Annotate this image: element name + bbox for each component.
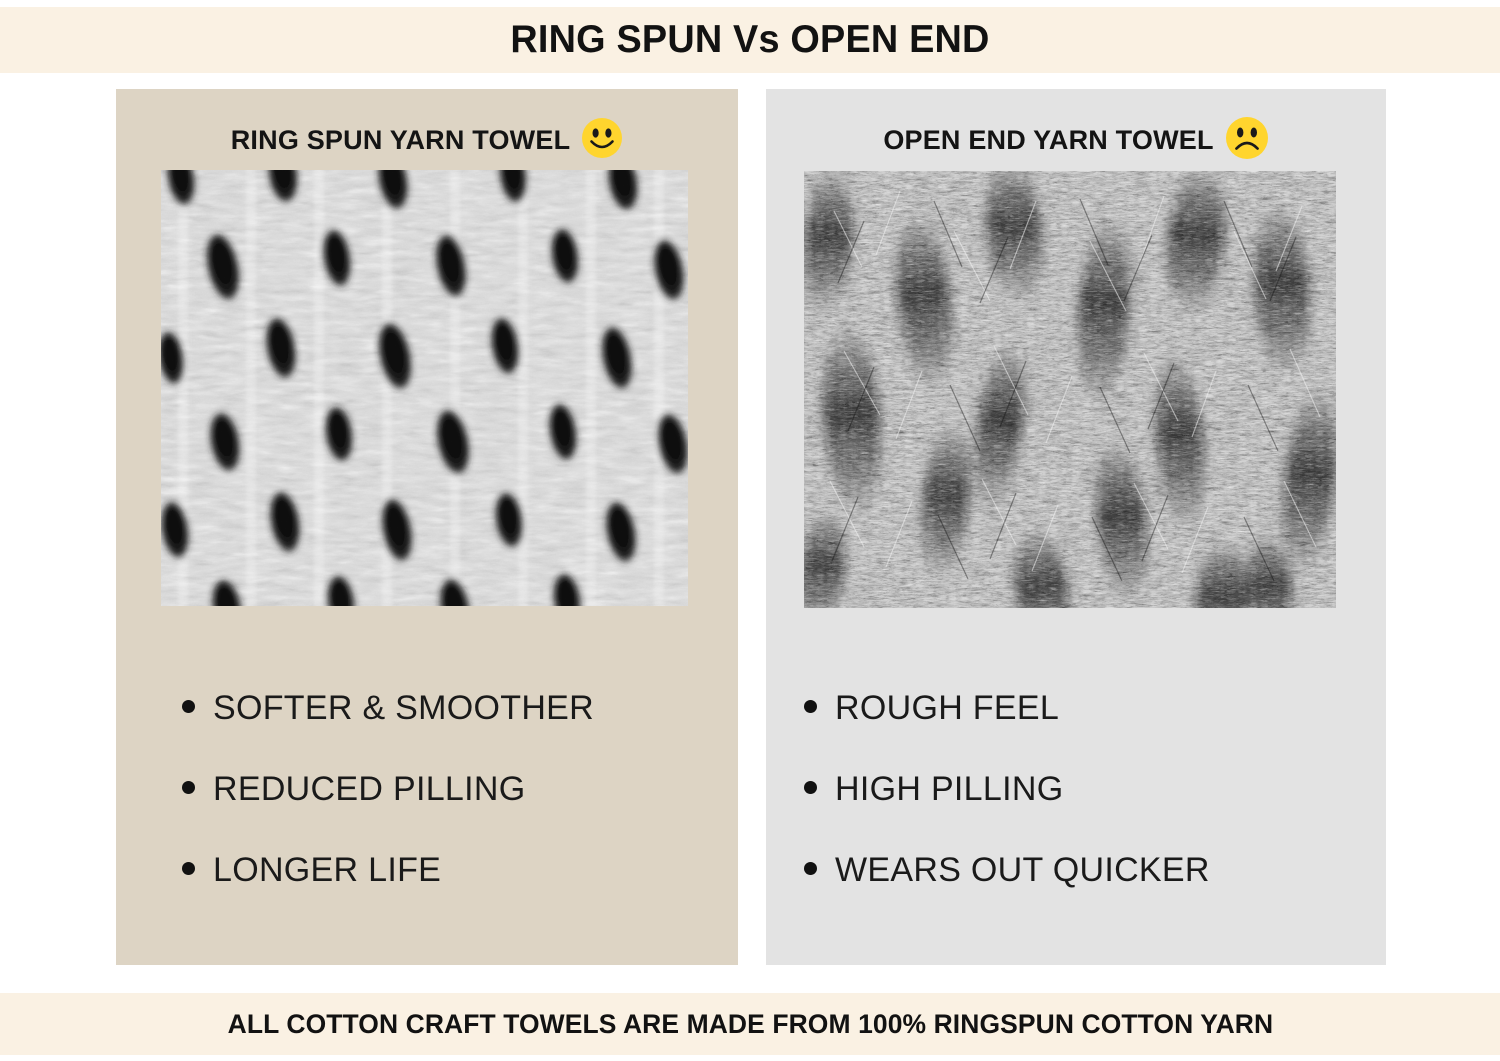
list-item: ROUGH FEEL [804,689,1424,770]
list-item-label: WEARS OUT QUICKER [835,851,1210,890]
feature-list-open-end: ROUGH FEEL HIGH PILLING WEARS OUT QUICKE… [766,689,1424,932]
panel-heading-open-end: OPEN END YARN TOWEL [766,112,1386,168]
bullet-dot-icon [804,781,817,794]
list-item: WEARS OUT QUICKER [804,851,1424,932]
texture-swatch-ring-spun [161,170,688,606]
list-item-label: REDUCED PILLING [213,770,525,809]
bullet-dot-icon [182,781,195,794]
list-item: SOFTER & SMOOTHER [182,689,804,770]
texture-swatch-open-end [804,171,1336,608]
list-item-label: HIGH PILLING [835,770,1063,809]
list-item: HIGH PILLING [804,770,1424,851]
panel-title-open-end: OPEN END YARN TOWEL [883,125,1213,156]
list-item-label: SOFTER & SMOOTHER [213,689,594,728]
list-item: REDUCED PILLING [182,770,804,851]
page-title: RING SPUN Vs OPEN END [510,18,989,62]
bullet-dot-icon [804,700,817,713]
panel-title-ring-spun: RING SPUN YARN TOWEL [231,125,571,156]
panel-heading-ring-spun: RING SPUN YARN TOWEL [116,112,738,168]
smiley-face-icon [581,117,623,164]
header-band: RING SPUN Vs OPEN END [0,7,1500,73]
bullet-dot-icon [182,700,195,713]
bullet-dot-icon [182,862,195,875]
panel-ring-spun: RING SPUN YARN TOWEL [116,89,738,965]
bullet-dot-icon [804,862,817,875]
footer-band: ALL COTTON CRAFT TOWELS ARE MADE FROM 10… [0,993,1500,1055]
panel-open-end: OPEN END YARN TOWEL [766,89,1386,965]
list-item-label: ROUGH FEEL [835,689,1059,728]
list-item-label: LONGER LIFE [213,851,441,890]
sad-face-icon [1225,116,1269,165]
list-item: LONGER LIFE [182,851,804,932]
footer-message: ALL COTTON CRAFT TOWELS ARE MADE FROM 10… [227,1009,1273,1040]
feature-list-ring-spun: SOFTER & SMOOTHER REDUCED PILLING LONGER… [116,689,804,932]
